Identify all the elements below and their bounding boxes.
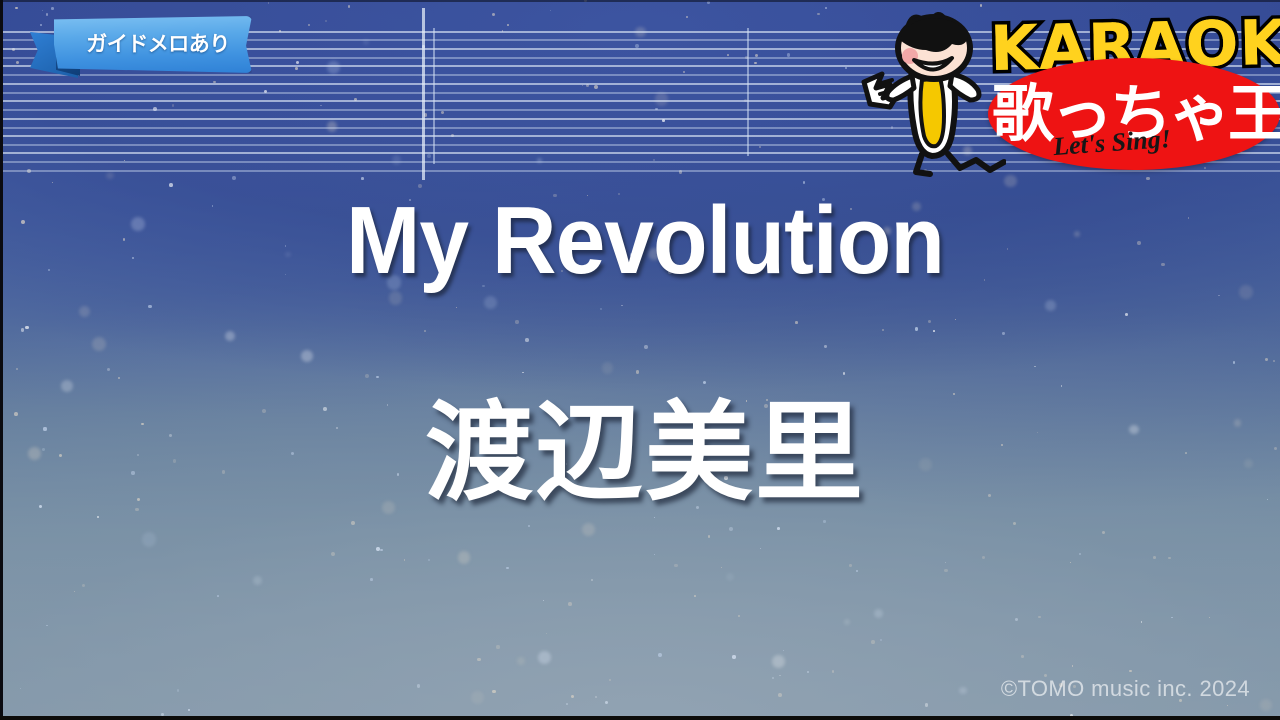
bokeh-particle	[915, 327, 919, 331]
bokeh-particle	[327, 121, 337, 131]
bokeh-particle	[1265, 358, 1268, 361]
bokeh-particle	[213, 81, 215, 83]
bokeh-particle	[1079, 553, 1081, 555]
bokeh-particle	[571, 695, 574, 698]
bokeh-particle	[142, 532, 157, 547]
bokeh-particle	[754, 62, 756, 64]
bokeh-particle	[404, 559, 405, 560]
bokeh-particle	[1171, 617, 1172, 618]
bokeh-particle	[783, 650, 784, 651]
frame-bottom-edge	[0, 716, 1280, 720]
bokeh-particle	[525, 338, 529, 342]
bokeh-particle	[807, 671, 809, 673]
bokeh-particle	[27, 169, 31, 173]
bokeh-particle	[451, 134, 454, 137]
bokeh-particle	[538, 651, 551, 664]
bokeh-particle	[392, 155, 402, 165]
bokeh-particle	[795, 321, 798, 324]
bokeh-particle	[594, 85, 598, 89]
song-title: My Revolution	[45, 186, 1245, 296]
bokeh-particle	[502, 30, 504, 32]
bokeh-particle	[844, 619, 850, 625]
bokeh-particle	[694, 595, 696, 597]
bokeh-particle	[148, 305, 151, 308]
bokeh-particle	[492, 690, 495, 693]
bokeh-particle	[515, 320, 518, 323]
bokeh-particle	[225, 331, 235, 341]
bokeh-particle	[679, 170, 682, 173]
bokeh-particle	[609, 679, 611, 681]
bokeh-particle	[566, 703, 568, 705]
bokeh-particle	[871, 640, 875, 644]
bokeh-particle	[380, 549, 383, 552]
frame-top-edge	[0, 0, 1280, 2]
karaoke-title-screen: ガイドメロあり	[0, 0, 1280, 720]
bokeh-particle	[320, 105, 321, 106]
bokeh-particle	[635, 44, 639, 48]
bokeh-particle	[621, 305, 623, 307]
bokeh-particle	[232, 176, 236, 180]
bokeh-particle	[1070, 562, 1071, 563]
bokeh-particle	[726, 573, 734, 581]
bokeh-particle	[21, 328, 24, 331]
bokeh-particle	[331, 552, 335, 556]
staff-barline	[422, 8, 425, 180]
bokeh-particle	[1013, 522, 1016, 525]
bokeh-particle	[1141, 621, 1142, 622]
bokeh-particle	[424, 113, 427, 116]
bokeh-particle	[1260, 699, 1272, 711]
bokeh-particle	[456, 307, 457, 308]
bokeh-particle	[644, 345, 648, 349]
bokeh-particle	[428, 559, 430, 561]
bokeh-particle	[441, 111, 444, 114]
bokeh-particle	[655, 92, 669, 106]
bokeh-particle	[1021, 655, 1024, 658]
bokeh-particle	[1102, 531, 1105, 534]
bokeh-particle	[595, 696, 597, 698]
staff-barline	[433, 28, 435, 164]
bokeh-particle	[51, 7, 54, 10]
bokeh-particle	[880, 639, 881, 640]
guide-melody-label: ガイドメロあり	[66, 28, 250, 58]
bokeh-particle	[779, 675, 781, 677]
bokeh-particle	[759, 146, 761, 148]
bokeh-particle	[874, 609, 883, 618]
bokeh-particle	[484, 296, 497, 309]
bokeh-particle	[517, 657, 525, 665]
bokeh-particle	[279, 30, 281, 32]
bokeh-particle	[832, 670, 835, 673]
bokeh-particle	[760, 548, 761, 549]
bokeh-particle	[787, 53, 791, 57]
bokeh-particle	[52, 182, 53, 183]
bokeh-particle	[817, 13, 819, 15]
bokeh-particle	[683, 71, 685, 73]
staff-barline	[747, 28, 749, 156]
bokeh-particle	[600, 308, 601, 309]
bokeh-particle	[153, 107, 157, 111]
bokeh-particle	[295, 67, 298, 70]
bokeh-particle	[546, 633, 547, 634]
bokeh-particle	[772, 677, 773, 678]
bokeh-particle	[124, 160, 125, 161]
frame-left-edge	[0, 0, 3, 720]
bokeh-particle	[528, 525, 530, 527]
bokeh-particle	[363, 39, 369, 45]
bokeh-particle	[537, 158, 542, 163]
bokeh-particle	[370, 578, 373, 581]
bokeh-particle	[882, 329, 884, 331]
bokeh-particle	[686, 16, 689, 19]
bokeh-particle	[1273, 360, 1275, 362]
bokeh-particle	[253, 576, 262, 585]
singing-mascot-icon	[856, 4, 1006, 194]
bokeh-particle	[354, 98, 356, 100]
bokeh-particle	[674, 564, 677, 567]
bokeh-particle	[732, 655, 735, 658]
bokeh-particle	[778, 693, 782, 697]
bokeh-particle	[708, 535, 711, 538]
bokeh-particle	[42, 10, 43, 11]
bokeh-particle	[427, 154, 431, 158]
bokeh-particle	[945, 562, 946, 563]
bokeh-particle	[727, 54, 729, 56]
bokeh-particle	[658, 653, 662, 657]
bokeh-particle	[738, 615, 740, 617]
bokeh-particle	[982, 556, 985, 559]
bokeh-particle	[744, 99, 747, 102]
bokeh-particle	[1168, 557, 1170, 559]
bokeh-particle	[46, 625, 48, 627]
bokeh-particle	[79, 306, 90, 317]
bokeh-particle	[849, 564, 852, 567]
bokeh-particle	[654, 554, 655, 555]
bokeh-particle	[471, 691, 484, 704]
copyright-text: ©TOMO music inc. 2024	[1001, 676, 1250, 702]
bokeh-particle	[424, 330, 426, 332]
artist-name: 渡辺美里	[0, 366, 1280, 522]
bokeh-particle	[301, 350, 313, 362]
bokeh-particle	[582, 523, 595, 536]
bokeh-particle	[1233, 361, 1236, 364]
bokeh-particle	[21, 220, 25, 224]
bokeh-particle	[721, 567, 723, 569]
bokeh-particle	[361, 177, 364, 180]
bokeh-particle	[1002, 332, 1004, 334]
bokeh-particle	[172, 104, 175, 107]
bokeh-particle	[217, 595, 219, 597]
bokeh-particle	[925, 703, 929, 707]
bokeh-particle	[20, 688, 21, 689]
bokeh-particle	[74, 591, 76, 593]
bokeh-particle	[745, 56, 748, 59]
bokeh-particle	[417, 684, 421, 688]
bokeh-particle	[568, 602, 572, 606]
bokeh-particle	[959, 687, 967, 695]
bokeh-particle	[1227, 705, 1228, 706]
bokeh-particle	[106, 172, 114, 180]
bokeh-particle	[16, 61, 19, 64]
bokeh-particle	[492, 13, 495, 16]
bokeh-particle	[458, 551, 470, 563]
bokeh-particle	[955, 319, 956, 320]
bokeh-particle	[507, 24, 509, 26]
bokeh-particle	[635, 27, 646, 38]
bokeh-particle	[325, 20, 327, 22]
bokeh-particle	[422, 45, 425, 48]
bokeh-particle	[824, 345, 826, 347]
bokeh-particle	[777, 527, 780, 530]
bokeh-particle	[1153, 556, 1156, 559]
bokeh-particle	[1045, 300, 1056, 311]
bokeh-particle	[496, 645, 499, 648]
bokeh-particle	[1015, 618, 1018, 621]
bokeh-particle	[327, 61, 341, 75]
bokeh-particle	[376, 547, 380, 551]
bokeh-particle	[477, 658, 480, 661]
bokeh-particle	[550, 10, 551, 11]
bokeh-particle	[92, 337, 106, 351]
bokeh-particle	[944, 569, 948, 573]
bokeh-particle	[25, 326, 29, 330]
bokeh-particle	[928, 320, 931, 323]
bokeh-particle	[856, 570, 858, 572]
guide-melody-badge: ガイドメロあり	[30, 14, 252, 78]
bokeh-particle	[662, 119, 665, 122]
bokeh-particle	[506, 567, 508, 569]
bokeh-particle	[268, 2, 269, 3]
bokeh-particle	[825, 7, 827, 9]
bokeh-particle	[1125, 313, 1128, 316]
bokeh-particle	[1072, 665, 1073, 666]
bokeh-particle	[296, 61, 299, 64]
bokeh-particle	[1129, 670, 1132, 673]
bokeh-particle	[729, 527, 733, 531]
bokeh-particle	[655, 108, 657, 110]
bokeh-particle	[772, 655, 785, 668]
bokeh-particle	[591, 579, 593, 581]
bokeh-particle	[264, 90, 267, 93]
bokeh-particle	[188, 709, 190, 711]
bokeh-particle	[177, 689, 179, 691]
bokeh-particle	[755, 54, 758, 57]
bokeh-particle	[803, 181, 806, 184]
bokeh-particle	[1209, 617, 1210, 618]
bokeh-particle	[15, 7, 17, 9]
bokeh-particle	[1038, 616, 1041, 619]
karaoke-brand-logo: KARAOKE KARAOKE 歌っちゃ王 Let's Sing!	[848, 0, 1280, 200]
bokeh-particle	[12, 48, 15, 51]
bokeh-particle	[582, 85, 583, 86]
bokeh-particle	[543, 600, 544, 601]
bokeh-particle	[586, 84, 589, 87]
bokeh-particle	[308, 24, 310, 26]
bokeh-particle	[605, 701, 608, 704]
bokeh-particle	[933, 330, 935, 332]
bokeh-particle	[653, 159, 655, 161]
bokeh-particle	[82, 584, 86, 588]
bokeh-particle	[348, 5, 351, 8]
